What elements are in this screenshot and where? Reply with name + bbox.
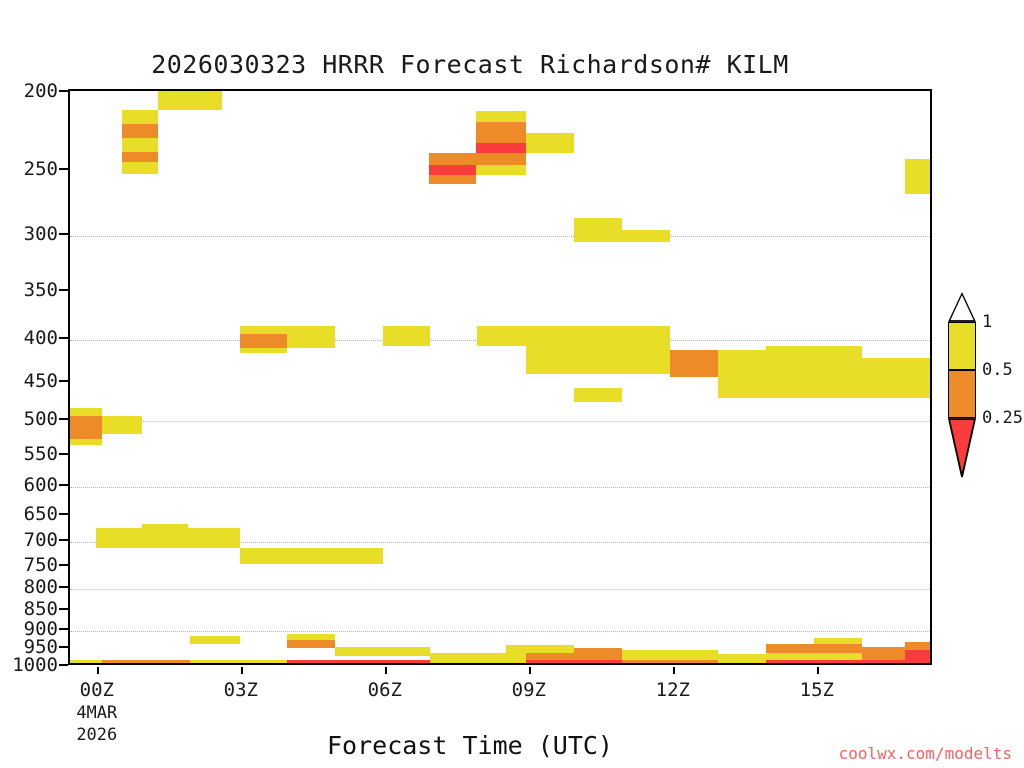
y-tick-label-400: 400	[24, 327, 58, 349]
data-cell	[190, 636, 240, 644]
y-tick-mark-700	[59, 539, 68, 541]
data-cell	[574, 648, 622, 660]
y-tick-label-750: 750	[24, 554, 58, 576]
data-cell	[905, 159, 932, 194]
data-cell	[862, 660, 905, 665]
y-tick-mark-400	[59, 337, 68, 339]
y-tick-mark-650	[59, 513, 68, 515]
data-cell	[240, 326, 287, 334]
y-tick-mark-500	[59, 418, 68, 420]
data-cell	[574, 660, 622, 665]
y-tick-label-800: 800	[24, 576, 58, 598]
x-axis-title: Forecast Time (UTC)	[0, 731, 940, 760]
data-cell	[766, 346, 862, 358]
data-cell	[766, 660, 814, 665]
data-cell	[766, 644, 814, 653]
y-axis: 2002503003504004505005506006507007508008…	[0, 89, 58, 665]
data-cell	[142, 524, 188, 548]
y-tick-label-250: 250	[24, 158, 58, 180]
x-tick-label-00Z: 00Z	[80, 679, 114, 701]
data-cell	[476, 111, 526, 122]
data-cell	[766, 358, 862, 377]
watermark-link[interactable]: coolwx.com/modelts	[839, 744, 1012, 763]
data-cell	[718, 350, 766, 377]
data-cell	[905, 662, 932, 665]
data-cell	[240, 548, 383, 564]
colorbar-legend: 10.50.25	[938, 292, 1024, 492]
data-cell	[526, 346, 622, 374]
data-cell	[240, 348, 287, 353]
y-tick-label-600: 600	[24, 474, 58, 496]
data-cell	[102, 660, 142, 665]
data-cell	[158, 90, 222, 110]
data-cell	[240, 334, 287, 348]
data-cell	[670, 660, 718, 665]
y-tick-label-450: 450	[24, 370, 58, 392]
y-tick-mark-200	[59, 90, 68, 92]
data-cell	[188, 528, 240, 548]
x-tick-label-09Z: 09Z	[512, 679, 546, 701]
data-cell	[122, 124, 158, 138]
colorbar-tick-0-25: 0.25	[982, 408, 1023, 428]
x-tick-label-15Z: 15Z	[800, 679, 834, 701]
data-cell	[670, 350, 718, 377]
data-cell	[905, 642, 932, 650]
y-tick-mark-250	[59, 168, 68, 170]
y-tick-mark-300	[59, 233, 68, 235]
y-tick-label-300: 300	[24, 223, 58, 245]
y-tick-mark-750	[59, 564, 68, 566]
data-cell	[476, 133, 526, 143]
hrrr-forecast-meteogram: 2026030323 HRRR Forecast Richardson# KIL…	[0, 0, 1024, 768]
data-cell	[383, 326, 430, 346]
gridline-900	[70, 631, 930, 632]
y-tick-mark-1000	[59, 664, 68, 666]
data-cell	[190, 660, 240, 665]
data-cell	[70, 416, 102, 439]
data-cell	[477, 326, 574, 346]
data-cell	[287, 640, 335, 648]
data-cell	[287, 326, 335, 348]
y-tick-label-350: 350	[24, 279, 58, 301]
x-tick-mark-03Z	[241, 667, 243, 674]
x-tick-label-12Z: 12Z	[656, 679, 690, 701]
data-cell	[506, 645, 574, 653]
gridline-300	[70, 236, 930, 237]
data-cell	[670, 650, 718, 660]
data-cell	[70, 408, 102, 416]
data-cell	[766, 653, 862, 660]
data-cell	[622, 326, 670, 346]
data-cell	[287, 660, 335, 665]
data-cell	[335, 660, 430, 665]
data-cell	[382, 647, 430, 653]
gridline-600	[70, 487, 930, 488]
x-tick-mark-15Z	[817, 667, 819, 674]
y-tick-label-700: 700	[24, 529, 58, 551]
x-axis-date-line-1: 4MAR	[76, 703, 117, 723]
x-tick-mark-09Z	[529, 667, 531, 674]
data-cell	[905, 650, 932, 662]
colorbar-band-orange	[948, 370, 976, 418]
data-cell	[862, 358, 932, 383]
data-cell	[122, 152, 158, 162]
y-tick-label-550: 550	[24, 443, 58, 465]
page-title: 2026030323 HRRR Forecast Richardson# KIL…	[0, 50, 940, 79]
data-cell	[814, 644, 862, 653]
data-cell	[476, 122, 526, 133]
data-cell	[526, 660, 574, 665]
gridline-800	[70, 589, 930, 590]
y-tick-mark-950	[59, 646, 68, 648]
plot-area	[68, 89, 932, 665]
data-cell	[430, 653, 526, 660]
data-cell	[574, 388, 622, 402]
data-cell	[622, 650, 670, 660]
x-tick-mark-12Z	[673, 667, 675, 674]
data-cell	[70, 660, 102, 665]
data-cell	[814, 660, 862, 665]
colorbar-tick-1: 1	[982, 312, 992, 332]
data-cell	[429, 175, 476, 184]
data-cell	[429, 153, 476, 165]
colorbar-tick-0-5: 0.5	[982, 360, 1013, 380]
data-cell	[142, 660, 190, 665]
gridline-500	[70, 421, 930, 422]
plot-canvas	[70, 91, 930, 663]
data-cell	[574, 326, 622, 346]
data-cell	[477, 660, 526, 665]
data-cell	[622, 660, 670, 665]
y-tick-mark-800	[59, 586, 68, 588]
data-cell	[102, 416, 142, 434]
y-tick-mark-600	[59, 484, 68, 486]
x-tick-mark-06Z	[385, 667, 387, 674]
data-cell	[70, 439, 102, 445]
data-cell	[122, 110, 158, 124]
data-cell	[574, 230, 670, 242]
data-cell	[429, 165, 476, 175]
y-tick-label-850: 850	[24, 598, 58, 620]
y-tick-label-1000: 1000	[12, 654, 58, 676]
data-cell	[430, 660, 477, 665]
data-cell	[622, 346, 670, 374]
data-cell	[96, 528, 142, 548]
y-tick-mark-550	[59, 453, 68, 455]
data-cell	[476, 165, 526, 175]
y-tick-label-650: 650	[24, 503, 58, 525]
y-tick-mark-450	[59, 380, 68, 382]
data-cell	[240, 660, 287, 665]
data-cell	[862, 647, 905, 660]
colorbar-bottom-arrow-red	[948, 418, 976, 482]
y-tick-mark-350	[59, 289, 68, 291]
data-cell	[476, 153, 526, 165]
y-tick-mark-850	[59, 608, 68, 610]
data-cell	[526, 133, 574, 153]
y-tick-label-500: 500	[24, 408, 58, 430]
data-cell	[718, 660, 766, 665]
colorbar-band-yellow	[948, 322, 976, 370]
data-cell	[122, 138, 158, 152]
data-cell	[122, 162, 158, 174]
y-tick-label-200: 200	[24, 80, 58, 102]
y-tick-mark-900	[59, 628, 68, 630]
data-cell	[574, 218, 622, 230]
x-tick-mark-00Z	[97, 667, 99, 674]
x-tick-label-03Z: 03Z	[224, 679, 258, 701]
x-tick-label-06Z: 06Z	[368, 679, 402, 701]
data-cell	[526, 653, 574, 660]
